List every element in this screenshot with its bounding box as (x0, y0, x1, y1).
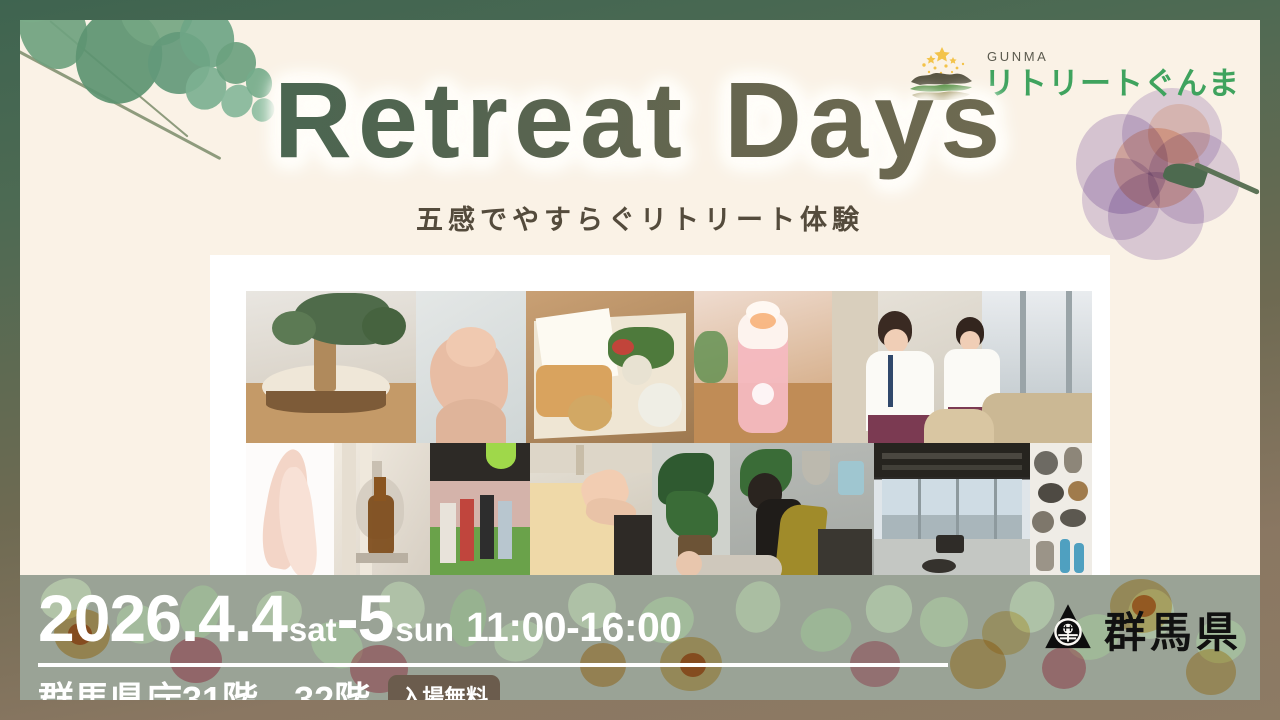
free-admission-badge: 入場無料 (388, 675, 500, 700)
event-date-end: -5 (337, 585, 394, 651)
event-day1: sat (289, 613, 337, 646)
photo-pink-drink (694, 291, 832, 443)
photo-grid (228, 273, 1092, 565)
photo-massage-therapists (832, 291, 1092, 443)
poster-root: GUNMA リトリートぐんま Retreat Days 五感でやすらぐリトリート… (0, 0, 1280, 720)
photo-collage-panel (210, 255, 1110, 583)
photo-plants-yoga (652, 443, 874, 583)
photo-stretch-class (430, 443, 530, 583)
photo-hands-care (246, 443, 334, 583)
event-time: 11:00-16:00 (466, 607, 682, 648)
photo-body-treatment (530, 443, 652, 583)
photo-lunch-box (526, 291, 694, 443)
event-day2: sun (395, 613, 454, 646)
photo-window-view-room (874, 443, 1030, 583)
photo-candle-eucalyptus (246, 291, 416, 443)
page-title: Retreat Days (274, 58, 1006, 182)
venue-name: 群馬県庁31階、32階 (38, 671, 370, 700)
photo-hand-closeup (416, 291, 526, 443)
prefecture-name: 群馬県 (1104, 599, 1242, 660)
gunma-prefecture-crest-icon (1042, 601, 1094, 658)
prefecture-signature: 群馬県 (1042, 599, 1242, 660)
event-info-band: 2026.4.4 sat -5 sun 11:00-16:00 群馬県庁31階、… (20, 575, 1260, 700)
event-date-line: 2026.4.4 sat -5 sun 11:00-16:00 (38, 585, 682, 651)
title-block: Retreat Days (20, 58, 1260, 182)
page-subtitle: 五感でやすらぐリトリート体験 (20, 198, 1260, 237)
event-date: 2026.4.4 (38, 585, 287, 651)
divider-rule (38, 663, 948, 667)
photo-amber-bottle (334, 443, 430, 583)
photo-singing-bowls-wall (1030, 443, 1092, 583)
poster-canvas: GUNMA リトリートぐんま Retreat Days 五感でやすらぐリトリート… (20, 20, 1260, 700)
venue-row: 群馬県庁31階、32階 入場無料 (38, 671, 500, 700)
